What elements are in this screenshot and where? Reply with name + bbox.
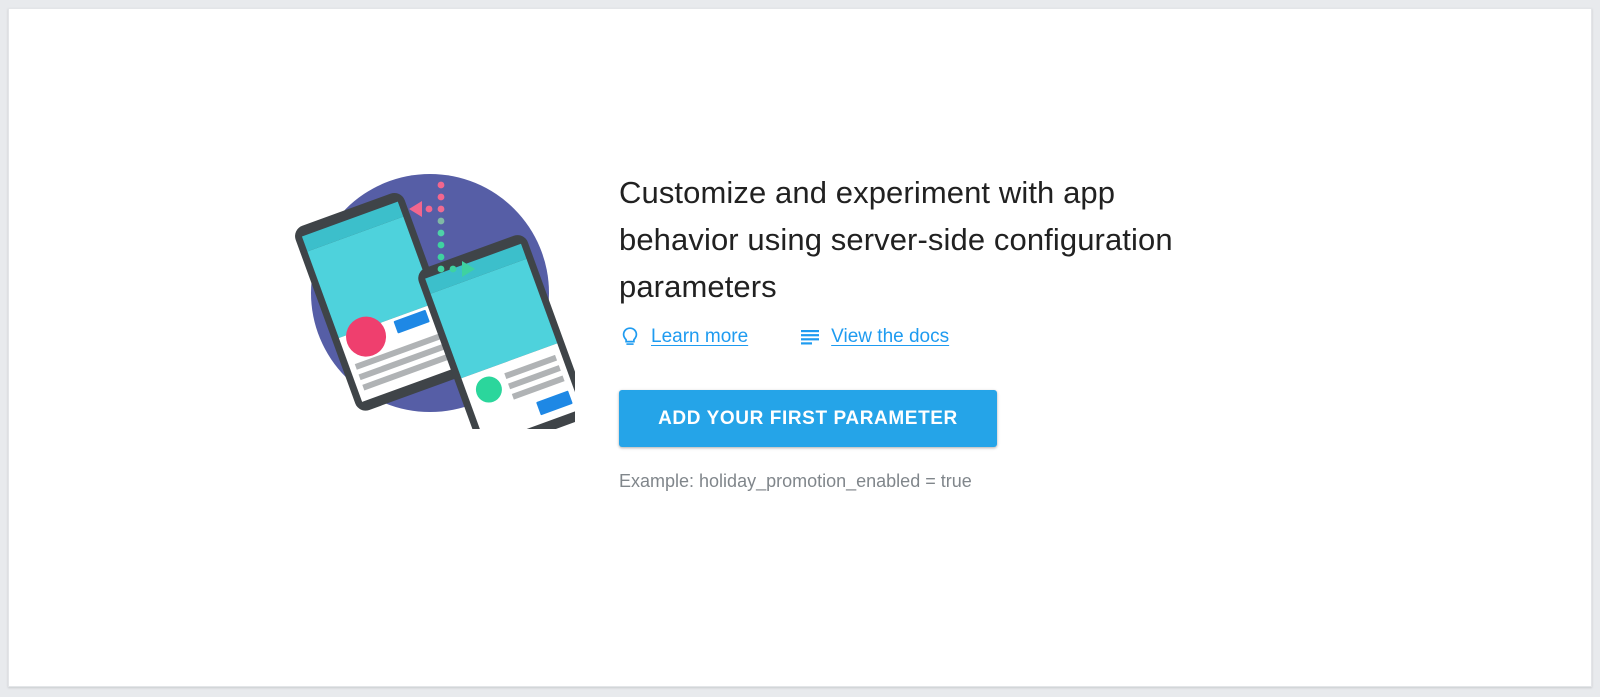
learn-more-label: Learn more — [651, 326, 748, 348]
lightbulb-icon — [619, 326, 641, 348]
empty-state-content: Customize and experiment with app behavi… — [619, 169, 1319, 493]
view-docs-link[interactable]: View the docs — [799, 326, 949, 348]
add-first-parameter-button[interactable]: ADD YOUR FIRST PARAMETER — [619, 390, 997, 447]
helper-links-row: Learn more View the docs — [619, 326, 1319, 348]
empty-state-panel: Customize and experiment with app behavi… — [9, 9, 1591, 686]
learn-more-link[interactable]: Learn more — [619, 326, 748, 348]
two-phones-sync-illustration — [295, 159, 575, 429]
example-hint-text: Example: holiday_promotion_enabled = tru… — [619, 469, 1319, 493]
page-card: Customize and experiment with app behavi… — [8, 8, 1592, 687]
view-docs-label: View the docs — [831, 326, 949, 348]
article-lines-icon — [799, 326, 821, 348]
page-title: Customize and experiment with app behavi… — [619, 169, 1219, 310]
